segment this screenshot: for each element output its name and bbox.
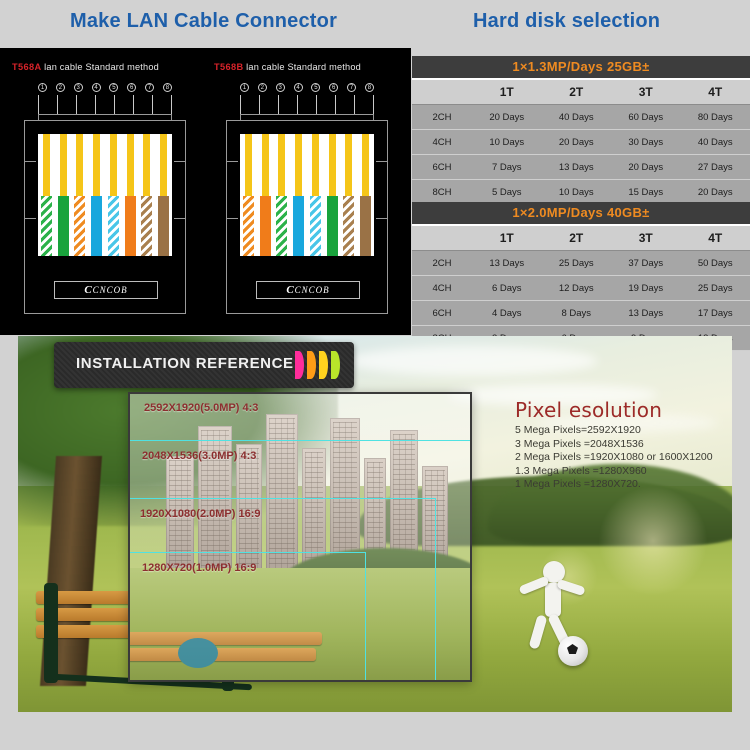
banner-label: INSTALLATION REFERENCE — [76, 355, 294, 372]
column-header: 3T — [611, 225, 681, 251]
pixel-legend-line: 1.3 Mega Pixels =1280X960 — [515, 465, 732, 479]
hard-disk-table-1: 1×1.3MP/Days 25GB± 1T2T3T4T2CH20 Days40 … — [412, 56, 750, 205]
table-header-row: 1T2T3T4T — [412, 79, 750, 105]
pin-numbers-a: 1 2 3 4 5 6 7 8 — [38, 83, 172, 95]
table-row: 4CH6 Days12 Days19 Days25 Days — [412, 276, 750, 301]
table-row: 2CH13 Days25 Days37 Days50 Days — [412, 251, 750, 276]
table-row: 6CH4 Days8 Days13 Days17 Days — [412, 301, 750, 326]
wire-tip — [362, 134, 369, 196]
table-cell: 19 Days — [611, 276, 681, 301]
table-cell: 15 Days — [611, 180, 681, 205]
column-header: 4T — [681, 79, 750, 105]
wire-body — [260, 196, 271, 256]
table-cell: 20 Days — [472, 105, 542, 130]
wire-white-blue — [310, 134, 321, 256]
wire-body — [158, 196, 169, 256]
pin-number: 8 — [365, 83, 374, 92]
lens-flare — [598, 486, 708, 596]
standard-caption-a: T568A lan cable Standard method — [12, 62, 159, 72]
wire-tip — [312, 134, 319, 196]
wire-body — [310, 196, 321, 256]
wire-brown — [158, 134, 169, 256]
resolution-label-5mp: 2592X1920(5.0MP) 4:3 — [144, 402, 258, 414]
row-label: 8CH — [412, 180, 472, 205]
pin-number: 6 — [329, 83, 338, 92]
table-cell: 50 Days — [681, 251, 750, 276]
table-cell: 12 Days — [542, 276, 612, 301]
row-label: 2CH — [412, 251, 472, 276]
table-cell: 5 Days — [472, 180, 542, 205]
wire-body — [58, 196, 69, 256]
soccer-ball — [558, 636, 588, 666]
brand-label-a: CCNCOB — [54, 281, 158, 299]
brand-label-b: CCNCOB — [256, 281, 360, 299]
table-cell: 60 Days — [611, 105, 681, 130]
table-title: 1×2.0MP/Days 40GB± — [412, 202, 750, 224]
standard-method-b: lan cable Standard method — [246, 62, 361, 72]
pin-number: 4 — [294, 83, 303, 92]
column-header: 2T — [542, 79, 612, 105]
wire-tip — [143, 134, 150, 196]
connector-diagram-t568b: T568B lan cable Standard method 1 2 3 4 … — [214, 62, 400, 324]
wire-tip — [329, 134, 336, 196]
cloud — [348, 346, 598, 376]
wire-brown — [360, 134, 371, 256]
row-label: 4CH — [412, 276, 472, 301]
wire-green — [58, 134, 69, 256]
installation-reference-photo: INSTALLATION REFERENCE — [18, 336, 732, 712]
wire-tip — [76, 134, 83, 196]
pin-numbers-b: 1 2 3 4 5 6 7 8 — [240, 83, 374, 95]
wire-body — [293, 196, 304, 256]
bench-leg — [44, 583, 58, 683]
table-cell: 80 Days — [681, 105, 750, 130]
column-header: 4T — [681, 225, 750, 251]
pin-number: 6 — [127, 83, 136, 92]
wire-body — [343, 196, 354, 256]
wire-body — [276, 196, 287, 256]
pixel-legend-line: 1 Mega Pixels =1280X720. — [515, 478, 732, 492]
wire-tip — [345, 134, 352, 196]
wire-white-orange — [74, 134, 85, 256]
table-cell: 10 Days — [472, 130, 542, 155]
pin-number: 3 — [74, 83, 83, 92]
wire-green — [327, 134, 338, 256]
resolution-label-3mp: 2048X1536(3.0MP) 4:3 — [142, 450, 256, 462]
wire-tip — [110, 134, 117, 196]
page-title-harddisk: Hard disk selection — [473, 10, 660, 33]
table-cell: 25 Days — [681, 276, 750, 301]
pin-number: 4 — [92, 83, 101, 92]
pin-number: 1 — [38, 83, 47, 92]
figure-leg — [529, 614, 548, 649]
wire-white-blue — [108, 134, 119, 256]
wire-body — [360, 196, 371, 256]
wire-tip — [60, 134, 67, 196]
column-header — [412, 225, 472, 251]
page-title-lan: Make LAN Cable Connector — [70, 10, 337, 33]
rj45-plug-b: CCNCOB — [226, 114, 388, 314]
brand-text: CNCOB — [295, 285, 330, 295]
wire-tip — [295, 134, 302, 196]
capacity-table: 1T2T3T4T2CH13 Days25 Days37 Days50 Days4… — [412, 224, 750, 351]
table-cell: 10 Days — [542, 180, 612, 205]
table-cell: 20 Days — [681, 180, 750, 205]
pin-number: 3 — [276, 83, 285, 92]
column-header: 2T — [542, 225, 612, 251]
capacity-table: 1T2T3T4T2CH20 Days40 Days60 Days80 Days4… — [412, 78, 750, 205]
resolution-label-1mp: 1280X720(1.0MP) 16:9 — [142, 562, 256, 574]
plug-body: CCNCOB — [226, 120, 388, 314]
brand-text: CNCOB — [93, 285, 128, 295]
wire-body — [41, 196, 52, 256]
wire-body — [125, 196, 136, 256]
wire-tip — [278, 134, 285, 196]
chevron-icon — [331, 351, 340, 379]
wire-white-brown — [343, 134, 354, 256]
wire-orange — [260, 134, 271, 256]
wire-body — [243, 196, 254, 256]
chevron-icon — [295, 351, 304, 379]
wire-tip — [245, 134, 252, 196]
wire-tip — [262, 134, 269, 196]
standard-name-b: T568B — [214, 62, 244, 72]
wire-white-orange — [243, 134, 254, 256]
pixel-resolution-legend: Pixel esolution 5 Mega Pixels=2592X1920 … — [515, 398, 732, 492]
table-cell: 20 Days — [611, 155, 681, 180]
pin-number: 7 — [347, 83, 356, 92]
rj45-plug-a: CCNCOB — [24, 114, 186, 314]
standard-method-a: lan cable Standard method — [44, 62, 159, 72]
table-cell: 40 Days — [542, 105, 612, 130]
column-header — [412, 79, 472, 105]
table-header-row: 1T2T3T4T — [412, 225, 750, 251]
plug-right-notch — [174, 161, 186, 219]
installation-reference-banner: INSTALLATION REFERENCE — [54, 342, 354, 388]
table-cell: 40 Days — [681, 130, 750, 155]
resolution-comparison-panel: 2592X1920(5.0MP) 4:3 2048X1536(3.0MP) 4:… — [128, 392, 472, 682]
table-cell: 13 Days — [472, 251, 542, 276]
standard-name-a: T568A — [12, 62, 42, 72]
pin-number: 8 — [163, 83, 172, 92]
table-title: 1×1.3MP/Days 25GB± — [412, 56, 750, 78]
wire-tip — [43, 134, 50, 196]
table-row: 6CH7 Days13 Days20 Days27 Days — [412, 155, 750, 180]
table-cell: 13 Days — [611, 301, 681, 326]
wire-bundle-a — [38, 134, 172, 256]
wire-body — [91, 196, 102, 256]
table-row: 8CH5 Days10 Days15 Days20 Days — [412, 180, 750, 205]
pin-number: 5 — [311, 83, 320, 92]
row-label: 4CH — [412, 130, 472, 155]
plug-left-notch — [24, 161, 36, 219]
plug-right-notch — [376, 161, 388, 219]
pixel-legend-title: Pixel esolution — [515, 398, 732, 422]
column-header: 1T — [472, 79, 542, 105]
row-label: 6CH — [412, 155, 472, 180]
row-label: 2CH — [412, 105, 472, 130]
hard-disk-table-2: 1×2.0MP/Days 40GB± 1T2T3T4T2CH13 Days25 … — [412, 202, 750, 351]
connector-diagram-t568a: T568A lan cable Standard method 1 2 3 4 … — [12, 62, 198, 324]
wire-white-brown — [141, 134, 152, 256]
table-row: 2CH20 Days40 Days60 Days80 Days — [412, 105, 750, 130]
column-header: 3T — [611, 79, 681, 105]
table-cell: 20 Days — [542, 130, 612, 155]
plug-body: CCNCOB — [24, 120, 186, 314]
table-cell: 30 Days — [611, 130, 681, 155]
table-cell: 37 Days — [611, 251, 681, 276]
wire-body — [327, 196, 338, 256]
wire-tip — [127, 134, 134, 196]
wire-tip — [93, 134, 100, 196]
pin-number: 2 — [258, 83, 267, 92]
table-row: 4CH10 Days20 Days30 Days40 Days — [412, 130, 750, 155]
header-bar: Make LAN Cable Connector Hard disk selec… — [0, 0, 750, 48]
wire-blue — [293, 134, 304, 256]
chevron-icon — [319, 351, 328, 379]
chevron-icon — [307, 351, 316, 379]
wire-bundle-b — [240, 134, 374, 256]
pixel-legend-line: 3 Mega Pixels =2048X1536 — [515, 438, 732, 452]
table-cell: 7 Days — [472, 155, 542, 180]
resolution-label-2mp: 1920X1080(2.0MP) 16:9 — [140, 508, 260, 520]
chevron-group — [295, 351, 340, 379]
pin-number: 7 — [145, 83, 154, 92]
table-cell: 27 Days — [681, 155, 750, 180]
product-infographic: Make LAN Cable Connector Hard disk selec… — [0, 0, 750, 750]
wire-white-green — [276, 134, 287, 256]
row-label: 6CH — [412, 301, 472, 326]
plug-left-notch — [226, 161, 238, 219]
pin-number: 2 — [56, 83, 65, 92]
wire-orange — [125, 134, 136, 256]
pin-number: 1 — [240, 83, 249, 92]
table-cell: 25 Days — [542, 251, 612, 276]
pixel-legend-line: 2 Mega Pixels =1920X1080 or 1600X1200 — [515, 451, 732, 465]
table-cell: 8 Days — [542, 301, 612, 326]
pin-number: 5 — [109, 83, 118, 92]
table-cell: 17 Days — [681, 301, 750, 326]
wire-body — [141, 196, 152, 256]
column-header: 1T — [472, 225, 542, 251]
standard-caption-b: T568B lan cable Standard method — [214, 62, 361, 72]
table-cell: 13 Days — [542, 155, 612, 180]
lan-cable-panel: T568A lan cable Standard method 1 2 3 4 … — [0, 48, 411, 335]
table-cell: 4 Days — [472, 301, 542, 326]
pixel-legend-line: 5 Mega Pixels=2592X1920 — [515, 424, 732, 438]
wire-body — [108, 196, 119, 256]
wire-tip — [160, 134, 167, 196]
table-cell: 6 Days — [472, 276, 542, 301]
wire-blue — [91, 134, 102, 256]
wire-white-green — [41, 134, 52, 256]
wire-body — [74, 196, 85, 256]
